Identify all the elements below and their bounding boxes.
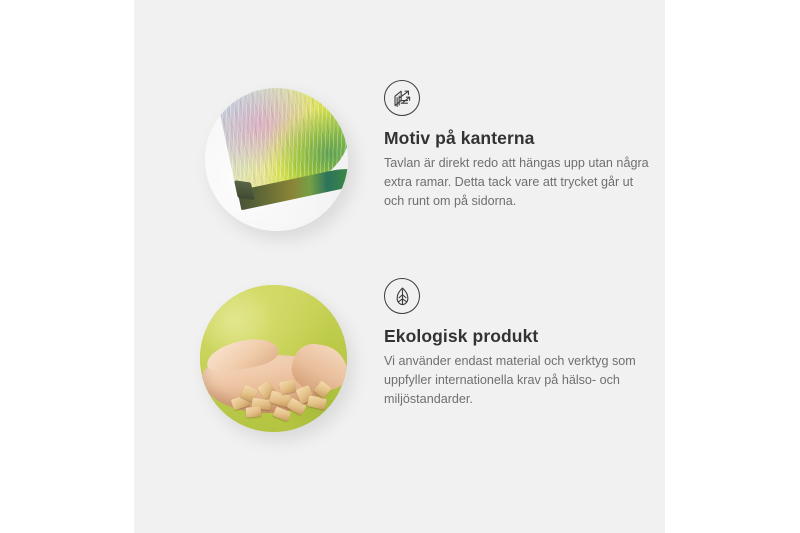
canvas-edge-print-icon [384, 80, 420, 116]
feature-body: Vi använder endast material och verktyg … [384, 352, 652, 409]
cupped-hands [200, 337, 347, 415]
feature-text-canvas-edges: Motiv på kanterna Tavlan är direkt redo … [384, 80, 652, 211]
photo-backdrop [200, 285, 347, 432]
info-panel: Motiv på kanterna Tavlan är direkt redo … [134, 0, 665, 533]
wood-chips-in-hands-photo [200, 285, 347, 432]
canvas-print-corner-photo [205, 88, 348, 231]
feature-title: Ekologisk produkt [384, 326, 652, 347]
feature-body: Tavlan är direkt redo att hängas upp uta… [384, 154, 652, 211]
leaf-icon [384, 278, 420, 314]
feature-block-eco-product: Ekologisk produkt Vi använder endast mat… [134, 278, 665, 443]
product-info-graphic: Motiv på kanterna Tavlan är direkt redo … [0, 0, 800, 533]
canvas-print-object [215, 88, 348, 218]
feature-text-eco-product: Ekologisk produkt Vi använder endast mat… [384, 278, 652, 409]
wood-chips-pile [230, 381, 334, 425]
photo-backdrop [205, 88, 348, 231]
feature-title: Motiv på kanterna [384, 128, 652, 149]
feature-block-canvas-edges: Motiv på kanterna Tavlan är direkt redo … [134, 80, 665, 250]
